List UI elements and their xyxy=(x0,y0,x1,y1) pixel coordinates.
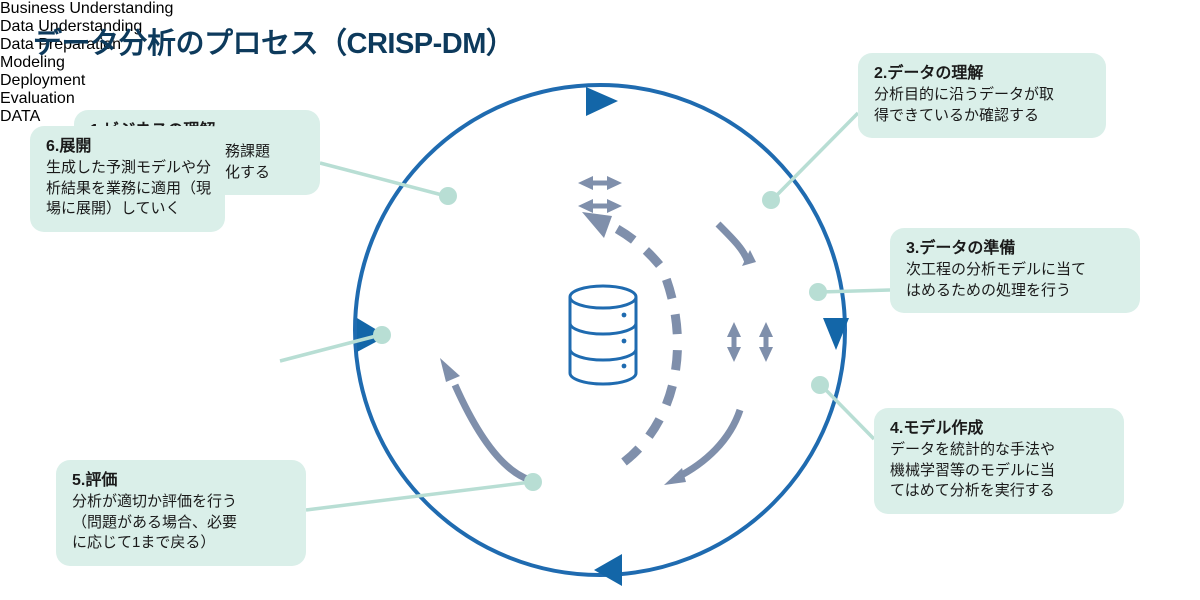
callout-modeling: 4.モデル作成 データを統計的な手法や 機械学習等のモデルに当 てはめて分析を実… xyxy=(874,408,1124,514)
callout-body: 生成した予測モデルや分 析結果を業務に適用（現 場に展開）していく xyxy=(46,158,211,220)
cycle-arc-top-right xyxy=(600,85,845,330)
callout-title: 3.データの準備 xyxy=(906,239,1126,259)
cycle-arc-top-left xyxy=(355,85,600,330)
arrow-business-dataunderstanding-lower-icon xyxy=(578,199,622,213)
arrow-evaluation-deployment-icon xyxy=(440,358,530,480)
cycle-circle xyxy=(355,85,845,575)
connector-dot-3 xyxy=(809,283,827,301)
arrow-business-dataunderstanding-upper-icon xyxy=(578,176,622,190)
callout-deployment: 6.展開 生成した予測モデルや分 析結果を業務に適用（現 場に展開）していく xyxy=(30,126,225,232)
arrow-dataprep-modeling-left-icon xyxy=(727,322,741,362)
connector-dot-2 xyxy=(762,191,780,209)
database-cylinder-icon xyxy=(570,286,636,384)
arrow-modeling-evaluation-icon xyxy=(664,410,740,485)
connector-dot-1 xyxy=(439,187,457,205)
connector-dot-5 xyxy=(524,473,542,491)
connector-callout-1 xyxy=(320,163,446,196)
callout-body: 次工程の分析モデルに当て はめるための処理を行う xyxy=(906,260,1126,301)
callout-title: 6.展開 xyxy=(46,137,211,157)
callout-title: 5.評価 xyxy=(72,471,292,491)
connector-dot-6 xyxy=(373,326,391,344)
cycle-arrow-bottom-icon xyxy=(594,554,622,586)
arrow-dataprep-modeling-right-icon xyxy=(759,322,773,362)
callout-evaluation: 5.評価 分析が適切か評価を行う （問題がある場合、必要 に応じて1まで戻る） xyxy=(56,460,306,566)
callout-data-understanding: 2.データの理解 分析目的に沿うデータが取 得できているか確認する xyxy=(858,53,1106,138)
connector-callout-3 xyxy=(820,290,890,292)
connector-callout-5 xyxy=(306,482,531,510)
cycle-arc-bottom-left xyxy=(355,330,600,575)
callout-body: 分析目的に沿うデータが取 得できているか確認する xyxy=(874,85,1092,126)
callout-title: 2.データの理解 xyxy=(874,64,1092,84)
arrow-dataunderstanding-dataprep-icon xyxy=(718,224,756,266)
callout-data-preparation: 3.データの準備 次工程の分析モデルに当て はめるための処理を行う xyxy=(890,228,1140,313)
connector-dot-4 xyxy=(811,376,829,394)
callout-body: データを統計的な手法や 機械学習等のモデルに当 てはめて分析を実行する xyxy=(890,440,1110,502)
arrow-evaluation-business-icon xyxy=(582,212,678,462)
callout-title: 4.モデル作成 xyxy=(890,419,1110,439)
connector-callout-6 xyxy=(280,335,380,361)
callout-body: 分析が適切か評価を行う （問題がある場合、必要 に応じて1まで戻る） xyxy=(72,492,292,554)
diagram-page: データ分析のプロセス（CRISP-DM） xyxy=(0,0,1200,600)
cycle-arrow-top-icon xyxy=(586,87,618,116)
connector-callout-2 xyxy=(772,113,858,200)
